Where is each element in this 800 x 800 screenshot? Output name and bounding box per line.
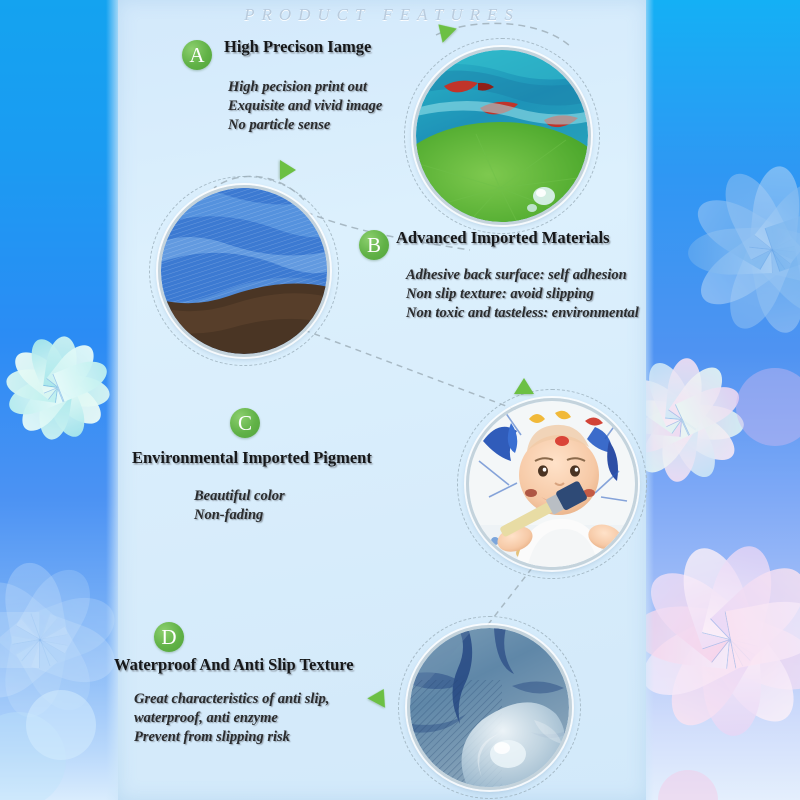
- bullets-b: Adhesive back surface: self adhesion Non…: [406, 266, 639, 323]
- arrow-to-photo-b: [280, 160, 296, 180]
- photo-c-wrapper: [466, 398, 638, 570]
- photo-b-ring: [158, 185, 330, 357]
- bullet-b-1: Adhesive back surface: self adhesion: [406, 266, 639, 285]
- right-decorative-band: [640, 0, 800, 800]
- badge-c: C: [230, 408, 260, 438]
- product-features-poster: PRODUCT FEATURES A High Precison Iamge H…: [0, 0, 800, 800]
- photo-a-wrapper: [413, 47, 591, 225]
- bullet-d-2: waterproof, anti enzyme: [134, 709, 329, 728]
- photo-d-wrapper: [407, 625, 572, 790]
- headline-c: Environmental Imported Pigment: [132, 448, 372, 468]
- baby-painting-photo: [469, 401, 635, 567]
- page-title: PRODUCT FEATURES: [118, 5, 646, 25]
- badge-a: A: [182, 40, 212, 70]
- bullet-c-1: Beautiful color: [194, 487, 285, 506]
- bullet-c-2: Non-fading: [194, 506, 285, 525]
- left-blob-2: [26, 690, 96, 760]
- bullet-a-1: High pecision print out: [228, 78, 382, 97]
- headline-b: Advanced Imported Materials: [396, 228, 610, 248]
- bullet-a-2: Exquisite and vivid image: [228, 97, 382, 116]
- bullet-d-1: Great characteristics of anti slip,: [134, 690, 329, 709]
- arrow-to-photo-d: [367, 684, 392, 708]
- lotus-leaf-koi-photo: [416, 50, 588, 222]
- photo-b-wrapper: [158, 185, 330, 357]
- bullets-c: Beautiful color Non-fading: [194, 487, 285, 525]
- photo-a-ring: [413, 47, 591, 225]
- bullet-b-3: Non toxic and tasteless: environmental: [406, 304, 639, 323]
- water-droplet-texture-photo: [410, 628, 569, 787]
- bullets-a: High pecision print out Exquisite and vi…: [228, 78, 382, 135]
- blue-fabric-texture-photo: [161, 188, 327, 354]
- left-decorative-band: [0, 0, 122, 800]
- bullet-b-2: Non slip texture: avoid slipping: [406, 285, 639, 304]
- headline-d: Waterproof And Anti Slip Texture: [114, 655, 354, 675]
- photo-d-ring: [407, 625, 572, 790]
- headline-a: High Precison Iamge: [224, 37, 371, 57]
- badge-b: B: [359, 230, 389, 260]
- content-panel: PRODUCT FEATURES A High Precison Iamge H…: [118, 0, 646, 800]
- bullet-d-3: Prevent from slipping risk: [134, 728, 329, 747]
- photo-c-ring: [466, 398, 638, 570]
- bullets-d: Great characteristics of anti slip, wate…: [134, 690, 329, 747]
- badge-d: D: [154, 622, 184, 652]
- arrow-to-photo-c: [514, 378, 534, 394]
- bullet-a-3: No particle sense: [228, 116, 382, 135]
